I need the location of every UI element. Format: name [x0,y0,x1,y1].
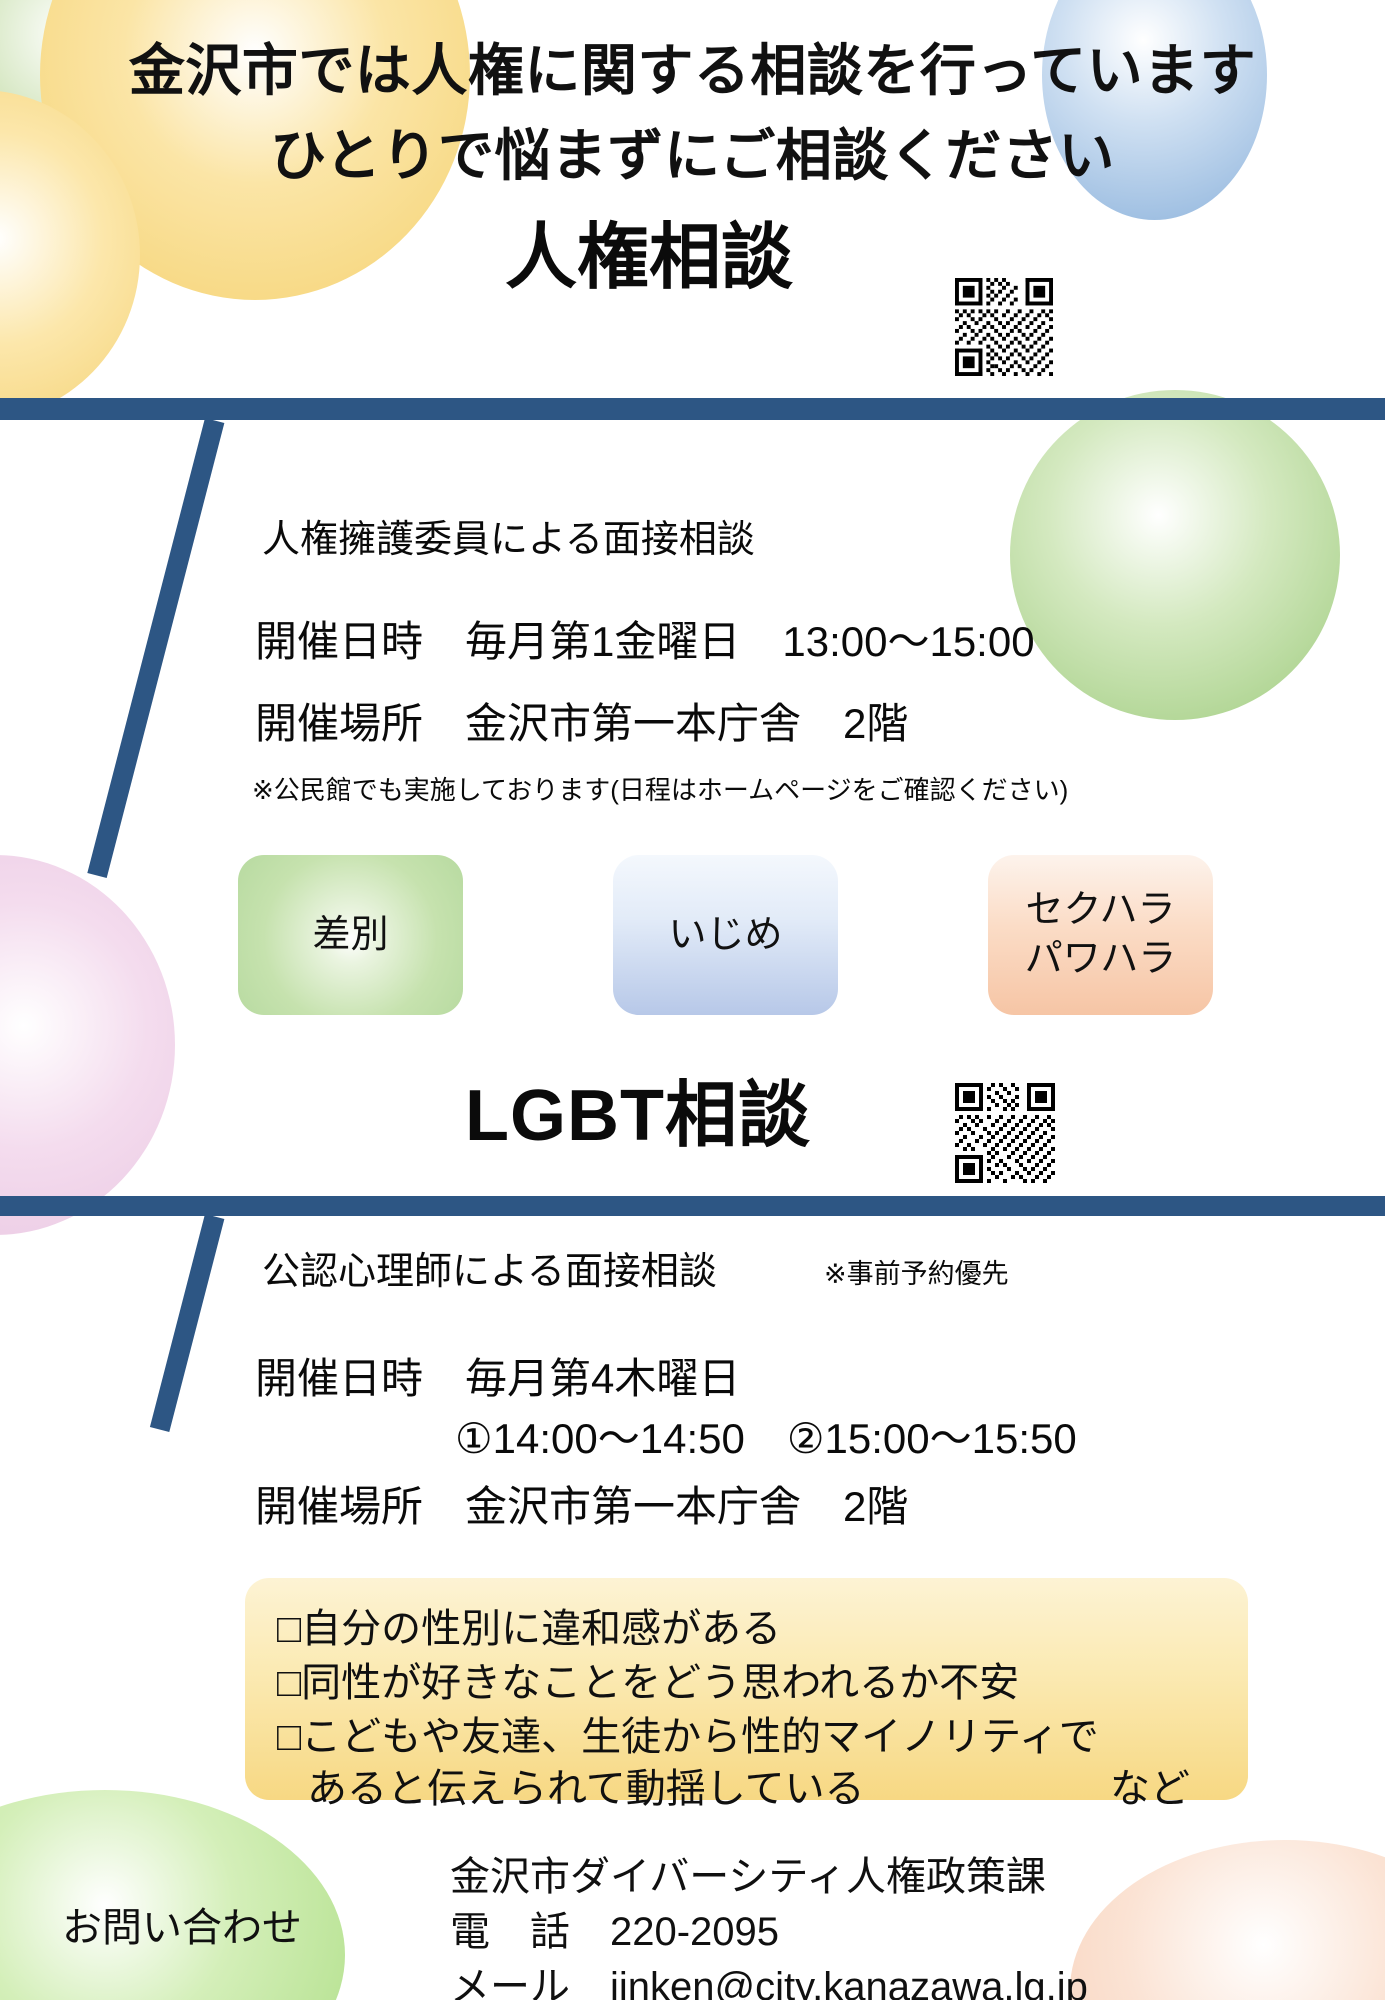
contact-details: 金沢市ダイバーシティ人権政策課 電 話 220-2095 メール jinken@… [450,1850,1088,2000]
checklist-item: □同性が好きなことをどう思われるか不安 [277,1658,1019,1708]
jinken-date-row: 開催日時 毎月第1金曜日 13:00〜15:00 [255,608,1035,669]
lgbt-time-slots-row: ①14:00〜14:50 ②15:00〜15:50 [455,1405,1077,1466]
topic-chip-label-wrap: セクハラ パワハラ [1025,886,1177,984]
poster-canvas: 金沢市では人権に関する相談を行っています ひとりで悩まずにご相談ください 人権相… [0,0,1385,2000]
checklist-item: □こどもや友達、生徒から性的マイノリティで [277,1712,1099,1762]
section-divider-bar-2 [0,1196,1385,1216]
checklist-item: □自分の性別に違和感がある [277,1604,781,1654]
section-diagonal-accent-2 [150,1214,224,1432]
jinken-note: ※公民館でも実施しております(日程はホームページをご確認ください) [252,770,1068,807]
topic-chip-ijime: いじめ [613,855,838,1015]
contact-label: お問い合わせ [62,1895,302,1953]
qr-code-icon-jinken[interactable] [955,278,1053,376]
lgbt-checklist-panel: □自分の性別に違和感がある □同性が好きなことをどう思われるか不安 □こどもや友… [245,1578,1248,1800]
poster-headline: 金沢市では人権に関する相談を行っています ひとりで悩まずにご相談ください [0,28,1385,198]
lgbt-reservation-note: ※事前予約優先 [824,1252,1009,1291]
checklist-item-continuation: あると伝えられて動揺している [307,1764,865,1814]
section-divider-bar-1 [0,398,1385,420]
decorative-blob-peach-bottom-right [1070,1840,1385,2000]
topic-chip-group: 差別 いじめ セクハラ パワハラ [0,855,1385,1020]
section-title-jinken-sodan: 人権相談 [505,222,793,294]
contact-department: 金沢市ダイバーシティ人権政策課 [450,1850,1088,1905]
section-diagonal-accent-1 [87,418,224,878]
topic-chip-label: いじめ [668,911,782,960]
lgbt-place-row: 開催場所 金沢市第一本庁舎 2階 [255,1473,908,1534]
topic-chip-label-line1: セクハラ [1025,889,1175,931]
lgbt-subheading: 公認心理師による面接相談 [262,1240,717,1295]
headline-line-1: 金沢市では人権に関する相談を行っています [0,28,1385,113]
decorative-blob-green-right [1010,390,1340,720]
section-title-lgbt-sodan: LGBT相談 [465,1080,811,1152]
checklist-etc-label: など [1110,1764,1190,1814]
jinken-place-row: 開催場所 金沢市第一本庁舎 2階 [255,690,908,751]
jinken-subheading: 人権擁護委員による面接相談 [262,508,755,563]
lgbt-date-row: 開催日時 毎月第4木曜日 [255,1345,740,1406]
topic-chip-sabetsu: 差別 [238,855,463,1015]
topic-chip-label-line2: パワハラ [1025,938,1177,980]
qr-code-icon-lgbt[interactable] [955,1083,1055,1183]
topic-chip-label: 差別 [312,911,388,960]
topic-chip-harassment: セクハラ パワハラ [988,855,1213,1015]
contact-email: メール jinken@city.kanazawa.lg.jp [450,1960,1088,2000]
contact-telephone: 電 話 220-2095 [450,1905,1088,1960]
headline-line-2: ひとりで悩まずにご相談ください [0,113,1385,198]
